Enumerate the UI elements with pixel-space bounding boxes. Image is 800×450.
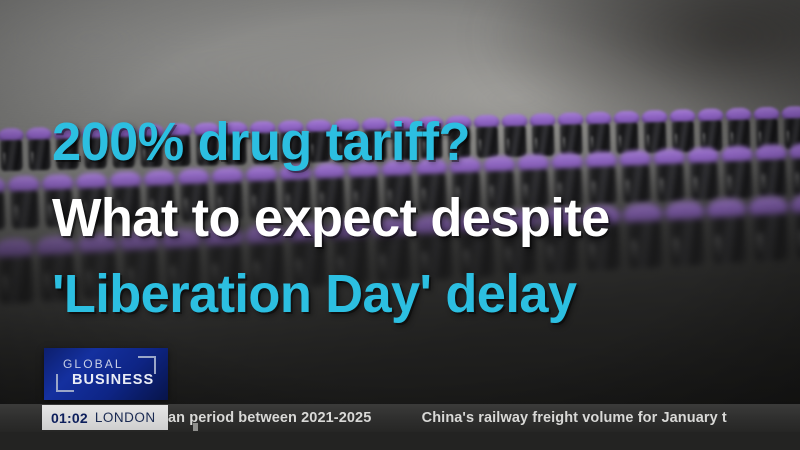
headline-line-3: 'Liberation Day' delay bbox=[52, 256, 770, 332]
programme-logo: GLOBAL BUSINESS bbox=[44, 348, 168, 400]
broadcast-screen: 200% drug tariff? What to expect despite… bbox=[0, 0, 800, 450]
clock-city: LONDON bbox=[95, 410, 156, 425]
ticker-text: an period between 2021-2025 China's rail… bbox=[168, 404, 727, 432]
headline-block: 200% drug tariff? What to expect despite… bbox=[52, 104, 792, 332]
ticker-scroll-nub[interactable] bbox=[193, 423, 198, 431]
ticker-item-1: an period between 2021-2025 bbox=[168, 410, 371, 426]
logo-word-business: BUSINESS bbox=[72, 372, 154, 388]
programme-logo-inner: GLOBAL BUSINESS bbox=[44, 348, 168, 400]
clock-badge: 01:02 LONDON bbox=[42, 405, 168, 430]
clock-time: 01:02 bbox=[51, 410, 88, 426]
headline-line-1: 200% drug tariff? bbox=[52, 104, 770, 180]
logo-word-global: GLOBAL bbox=[63, 357, 124, 371]
letterbox-bottom bbox=[0, 432, 800, 450]
ticker-item-2: China's railway freight volume for Janua… bbox=[422, 410, 727, 426]
headline-line-2: What to expect despite bbox=[52, 180, 770, 256]
